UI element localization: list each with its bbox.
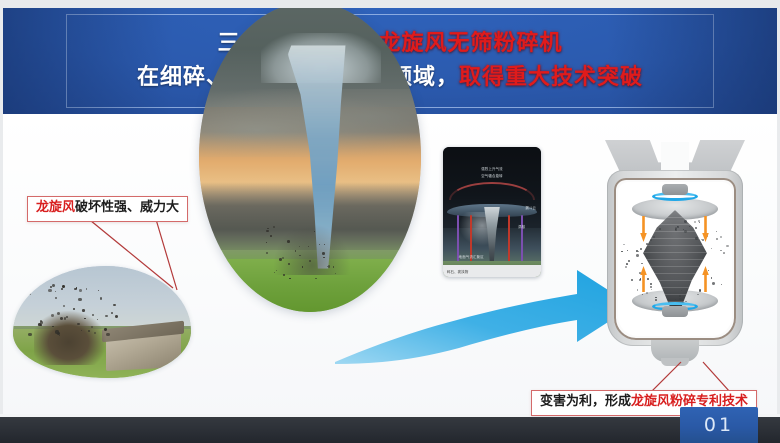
presentation-slide: 三十年磨一剑，龙旋风无筛粉碎机 在细碎、微粉碎装备技术领域，取得重大技术突破 — [0, 0, 780, 443]
pulverizer-machine-diagram — [599, 140, 751, 372]
machine-upper-shaft-hub — [662, 184, 688, 195]
diagram-label-funnel-cloud: 漏斗云 — [525, 206, 536, 211]
page-number-badge: 01 — [680, 407, 758, 443]
left-callout-leader-lines — [27, 214, 227, 314]
tornado-hero-photo — [199, 8, 421, 312]
machine-flow-arrow-down-left — [640, 216, 647, 242]
machine-lower-shaft-hub — [662, 306, 688, 317]
tornado-photo-dust-cloud — [274, 225, 349, 275]
slide-canvas: 三十年磨一剑，龙旋风无筛粉碎机 在细碎、微粉碎装备技术领域，取得重大技术突破 — [3, 8, 777, 417]
tornado-structure-diagram: 强烈上升气流 空气辐合旋转 漏斗云 涡核 碎石、裹挟物 地面气流汇聚区 — [443, 147, 541, 277]
callout-right-black: 变害为利，形成 — [540, 394, 631, 409]
video-letterbox-bottom — [0, 417, 780, 443]
diagram-label-convergence: 空气辐合旋转 — [443, 174, 541, 179]
callout-left-red: 龙旋风 — [36, 200, 75, 215]
diagram-label-core: 涡核 — [518, 225, 525, 230]
machine-flow-arrow-down-right — [702, 216, 709, 242]
diagram-label-debris: 碎石、裹挟物 — [447, 270, 469, 275]
diagram-label-convergence-zone: 地面气流汇聚区 — [459, 255, 484, 260]
callout-left-black: 破坏性强、威力大 — [75, 200, 179, 215]
title-line-2-red: 取得重大技术突破 — [459, 65, 643, 90]
machine-flow-arrow-up-left — [640, 266, 647, 292]
callout-tornado-destructive: 龙旋风破坏性强、威力大 — [27, 196, 188, 222]
video-letterbox-top — [0, 0, 780, 8]
machine-flow-arrow-up-right — [702, 266, 709, 292]
machine-grinding-chamber — [618, 182, 732, 336]
diagram-label-updraft: 强烈上升气流 — [443, 167, 541, 172]
